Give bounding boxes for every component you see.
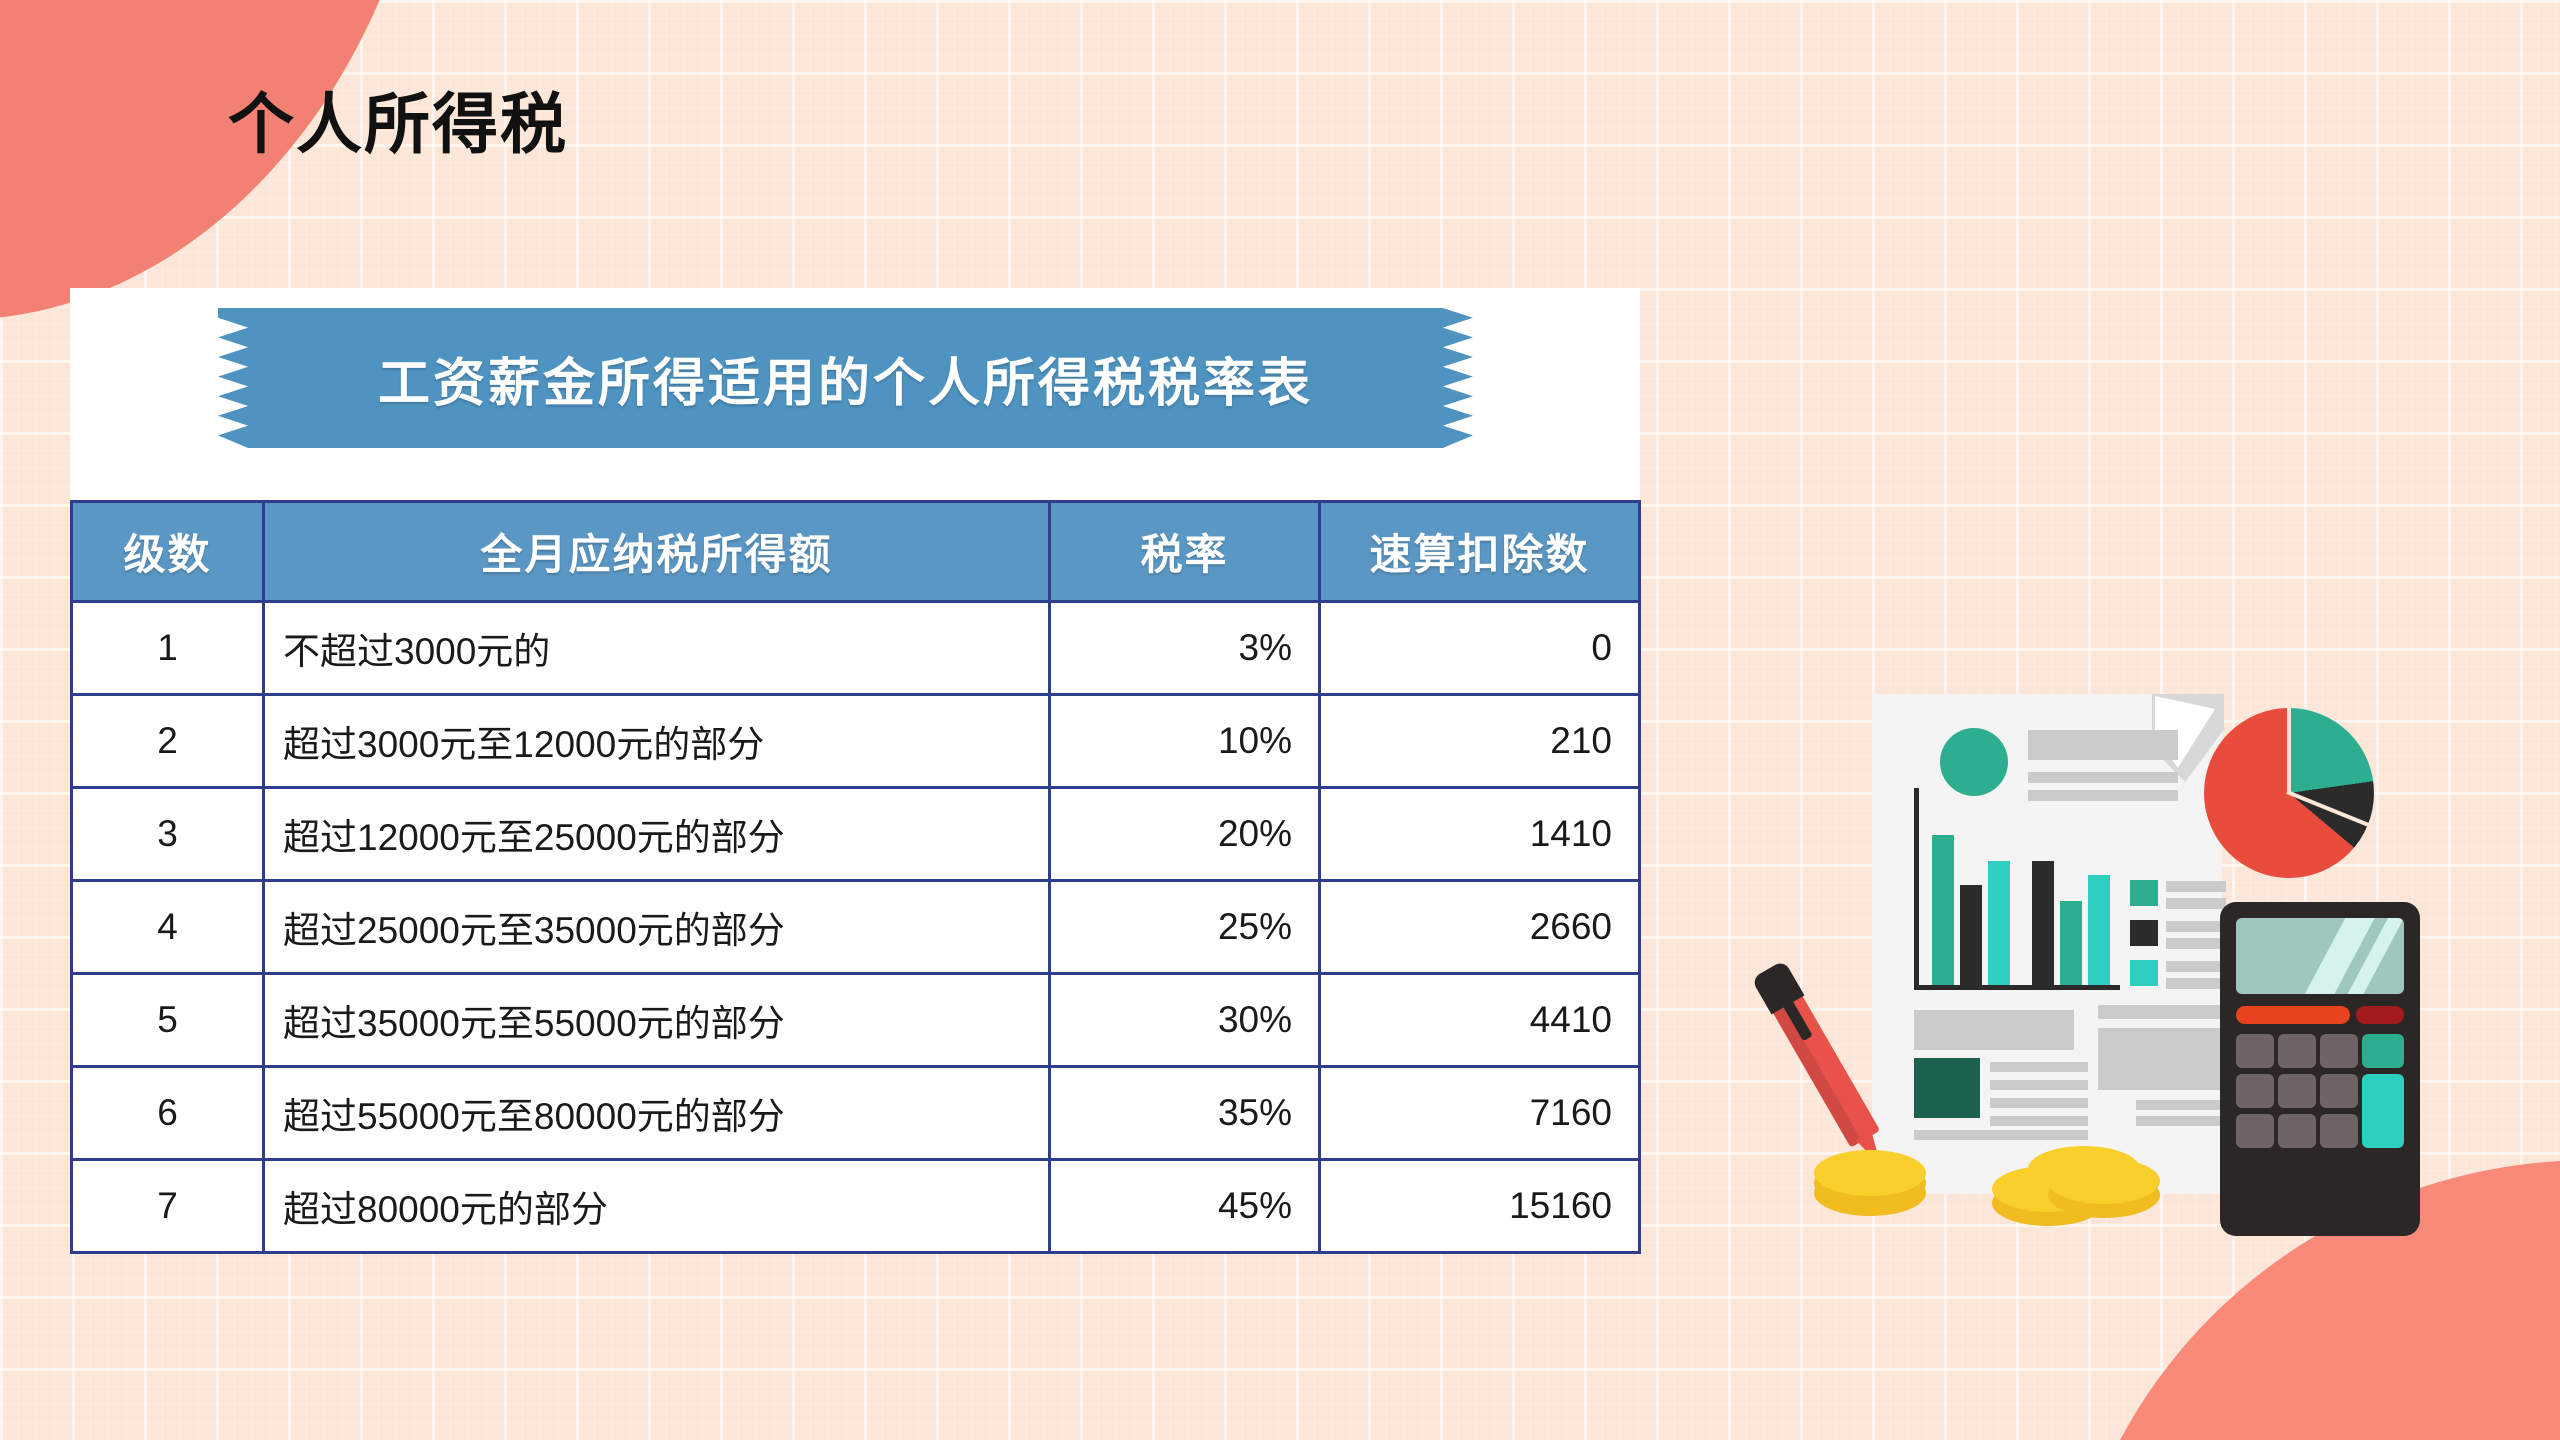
cell-level: 3 <box>72 788 264 881</box>
cell-rate: 35% <box>1050 1067 1320 1160</box>
cell-deduction: 7160 <box>1320 1067 1640 1160</box>
calculator-function-bar <box>2236 1006 2350 1024</box>
cell-rate: 10% <box>1050 695 1320 788</box>
calculator-power-key <box>2356 1006 2404 1024</box>
legend-text-bar <box>2166 921 2226 932</box>
bar-4 <box>2032 861 2054 985</box>
calculator-screen <box>2236 918 2404 994</box>
bar-1 <box>1932 835 1954 985</box>
text-placeholder-bar <box>2028 730 2178 760</box>
legend-text-bar <box>2166 898 2226 909</box>
bar-chart-x-axis <box>1914 985 2120 990</box>
coin <box>2028 1146 2140 1192</box>
table-row: 2 超过3000元至12000元的部分 10% 210 <box>72 695 1640 788</box>
banner-title: 工资薪金所得适用的个人所得税税率表 <box>378 341 1313 416</box>
bar-5 <box>2060 901 2082 985</box>
slide-canvas: 个人所得税 工资薪金所得适用的个人所得税税率表 级数 全月应纳税所得额 税率 速… <box>0 0 2560 1440</box>
cell-deduction: 0 <box>1320 602 1640 695</box>
calculator-key <box>2236 1114 2274 1148</box>
text-line <box>2136 1116 2220 1126</box>
text-placeholder-bar <box>2028 772 2178 783</box>
table-head: 级数 全月应纳税所得额 税率 速算扣除数 <box>72 502 1640 602</box>
calculator-key <box>2320 1074 2358 1108</box>
table-row: 7 超过80000元的部分 45% 15160 <box>72 1160 1640 1253</box>
calculator-key <box>2278 1114 2316 1148</box>
finance-report-illustration <box>1800 680 2420 1280</box>
column-header-rate: 税率 <box>1050 502 1320 602</box>
text-line <box>1990 1116 2088 1126</box>
cell-range: 超过25000元至35000元的部分 <box>264 881 1050 974</box>
table-header-row: 级数 全月应纳税所得额 税率 速算扣除数 <box>72 502 1640 602</box>
bar-6 <box>2088 875 2110 985</box>
cell-deduction: 210 <box>1320 695 1640 788</box>
text-line <box>1914 1130 2088 1140</box>
cell-level: 5 <box>72 974 264 1067</box>
cell-level: 1 <box>72 602 264 695</box>
cell-range: 超过35000元至55000元的部分 <box>264 974 1050 1067</box>
bar-3 <box>1988 861 2010 985</box>
cell-range: 超过55000元至80000元的部分 <box>264 1067 1050 1160</box>
bar-chart-y-axis <box>1914 788 1919 988</box>
text-line <box>1990 1062 2088 1072</box>
cell-rate: 45% <box>1050 1160 1320 1253</box>
cell-rate: 25% <box>1050 881 1320 974</box>
cell-rate: 30% <box>1050 974 1320 1067</box>
cell-rate: 20% <box>1050 788 1320 881</box>
column-header-deduction: 速算扣除数 <box>1320 502 1640 602</box>
text-line <box>1990 1080 2088 1090</box>
calculator-icon <box>2220 902 2420 1236</box>
legend-text-bar <box>2166 961 2226 972</box>
legend-swatch-teal <box>2130 880 2158 906</box>
column-header-level: 级数 <box>72 502 264 602</box>
table-row: 3 超过12000元至25000元的部分 20% 1410 <box>72 788 1640 881</box>
pie-slice-gap <box>2287 708 2291 794</box>
coin <box>1814 1150 1926 1196</box>
calculator-key <box>2236 1034 2274 1068</box>
legend-text-bar <box>2166 938 2226 949</box>
calculator-equals-key <box>2362 1074 2404 1148</box>
cell-level: 6 <box>72 1067 264 1160</box>
text-placeholder-bar <box>2028 790 2178 801</box>
cell-deduction: 4410 <box>1320 974 1640 1067</box>
calculator-key <box>2278 1034 2316 1068</box>
cell-deduction: 1410 <box>1320 788 1640 881</box>
calculator-key <box>2278 1074 2316 1108</box>
text-line <box>2136 1100 2220 1110</box>
cell-deduction: 15160 <box>1320 1160 1640 1253</box>
bar-chart-icon <box>1922 830 2122 985</box>
table-body: 1 不超过3000元的 3% 0 2 超过3000元至12000元的部分 10%… <box>72 602 1640 1253</box>
table-row: 4 超过25000元至35000元的部分 25% 2660 <box>72 881 1640 974</box>
calculator-key <box>2236 1074 2274 1108</box>
content-block-accent <box>1914 1058 1980 1118</box>
bar-2 <box>1960 885 1982 985</box>
table-row: 6 超过55000元至80000元的部分 35% 7160 <box>72 1067 1640 1160</box>
cell-rate: 3% <box>1050 602 1320 695</box>
legend-text-bar <box>2166 881 2226 892</box>
cell-range: 超过80000元的部分 <box>264 1160 1050 1253</box>
calculator-key <box>2320 1034 2358 1068</box>
legend-swatch-dark <box>2130 920 2158 946</box>
content-block <box>1914 1010 2074 1050</box>
cell-range: 超过12000元至25000元的部分 <box>264 788 1050 881</box>
tax-rate-table: 级数 全月应纳税所得额 税率 速算扣除数 1 不超过3000元的 3% 0 2 … <box>70 500 1641 1254</box>
cell-range: 超过3000元至12000元的部分 <box>264 695 1050 788</box>
page-title: 个人所得税 <box>228 88 568 161</box>
table-row: 1 不超过3000元的 3% 0 <box>72 602 1640 695</box>
cell-level: 7 <box>72 1160 264 1253</box>
legend-swatch-bright-teal <box>2130 960 2158 986</box>
text-line <box>1990 1098 2088 1108</box>
calculator-key-accent <box>2362 1034 2404 1068</box>
cell-level: 2 <box>72 695 264 788</box>
avatar-dot-icon <box>1940 728 2008 796</box>
calculator-key <box>2320 1114 2358 1148</box>
cell-level: 4 <box>72 881 264 974</box>
table-row: 5 超过35000元至55000元的部分 30% 4410 <box>72 974 1640 1067</box>
legend-text-bar <box>2166 978 2226 989</box>
banner-ribbon: 工资薪金所得适用的个人所得税税率表 <box>218 308 1473 448</box>
content-block <box>2098 1028 2220 1090</box>
cell-range: 不超过3000元的 <box>264 602 1050 695</box>
column-header-range: 全月应纳税所得额 <box>264 502 1050 602</box>
content-block <box>2098 1005 2220 1019</box>
cell-deduction: 2660 <box>1320 881 1640 974</box>
